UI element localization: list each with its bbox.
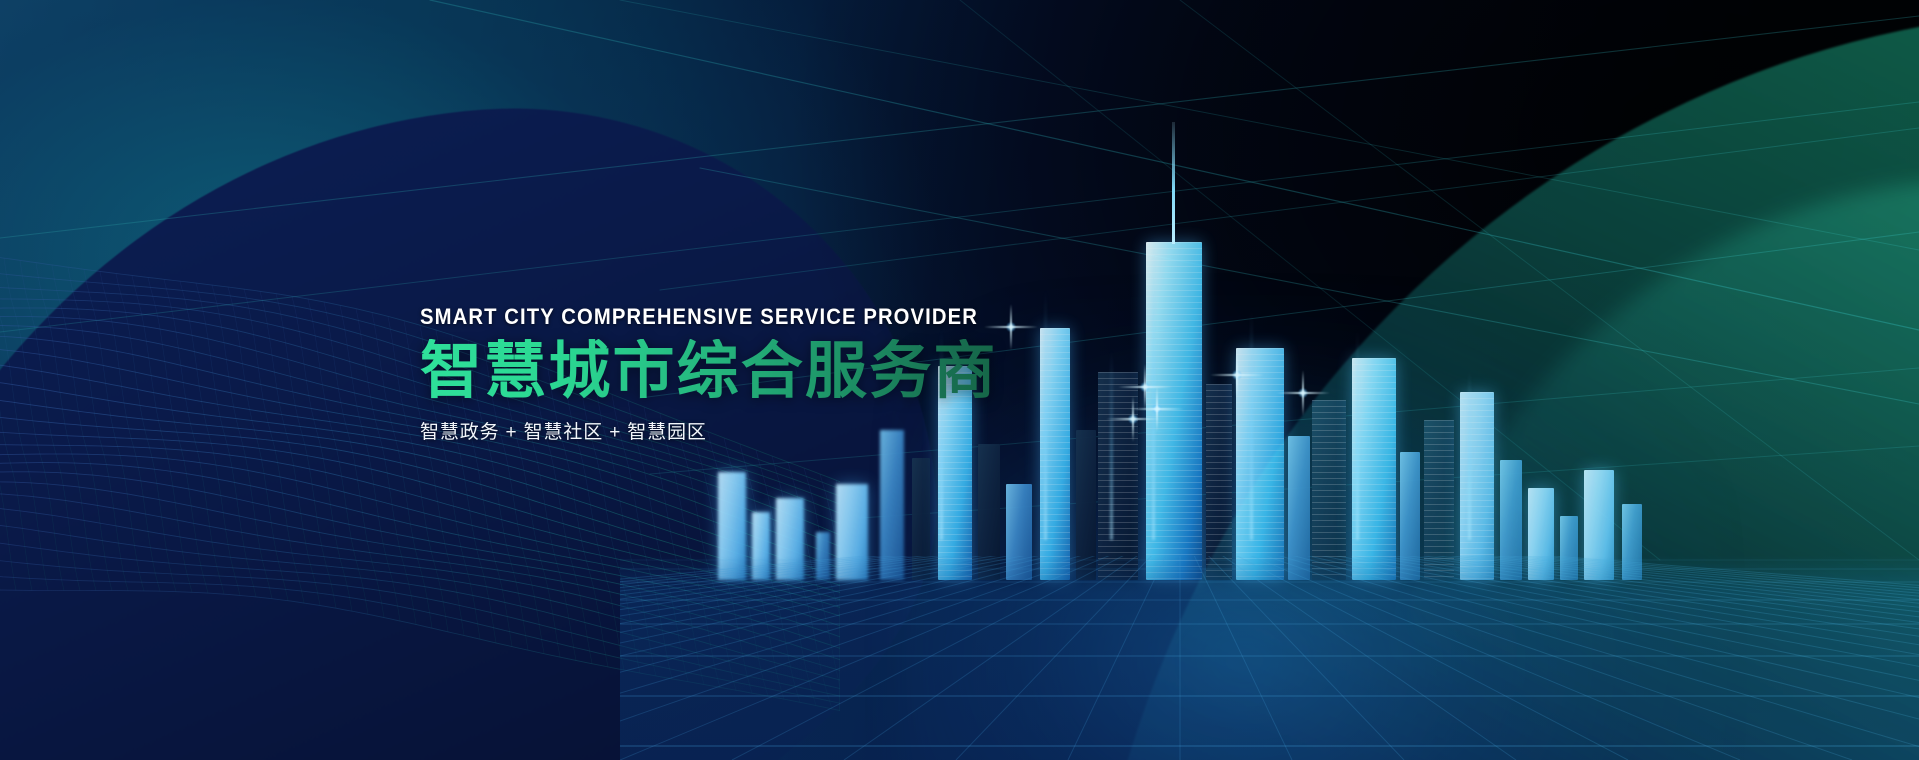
hero-copy-block: SMART CITY COMPREHENSIVE SERVICE PROVIDE… (420, 306, 1040, 444)
ground-col-3 (620, 556, 1180, 760)
ground-col-8 (620, 556, 1180, 760)
hero-headline: 智慧城市综合服务商 (420, 339, 1040, 406)
hero-subline: 智慧政务 + 智慧社区 + 智慧园区 (420, 417, 1040, 444)
light-streak-3 (1152, 240, 1155, 540)
ground-col-1 (620, 556, 1180, 760)
ground-col-15 (620, 556, 1180, 760)
building-spire-mast (1172, 122, 1175, 244)
ground-col-7 (620, 556, 1180, 760)
ground-col-12 (620, 556, 1180, 760)
ground-col-5 (620, 556, 1180, 760)
ground-col-13 (620, 556, 1180, 760)
ground-col-17 (620, 556, 1180, 760)
ground-col-11 (620, 556, 1180, 760)
light-streak-2 (1110, 350, 1113, 540)
ground-col-2 (620, 556, 1180, 760)
hero-eyebrow: SMART CITY COMPREHENSIVE SERVICE PROVIDE… (420, 306, 978, 329)
ground-col-16 (620, 556, 1180, 760)
ground-col-19 (844, 556, 1180, 760)
light-streak-1 (1044, 290, 1047, 540)
building-window-bands (1098, 372, 1138, 580)
ground-col-18 (732, 556, 1180, 760)
building-slab-a (1098, 372, 1138, 580)
ground-col-6 (620, 556, 1180, 760)
ground-col-10 (620, 556, 1180, 760)
ground-col-4 (620, 556, 1180, 760)
ground-col-14 (620, 556, 1180, 760)
ground-col-0 (620, 556, 1180, 760)
hero-banner: SMART CITY COMPREHENSIVE SERVICE PROVIDE… (0, 0, 1919, 760)
ground-col-9 (620, 556, 1180, 760)
